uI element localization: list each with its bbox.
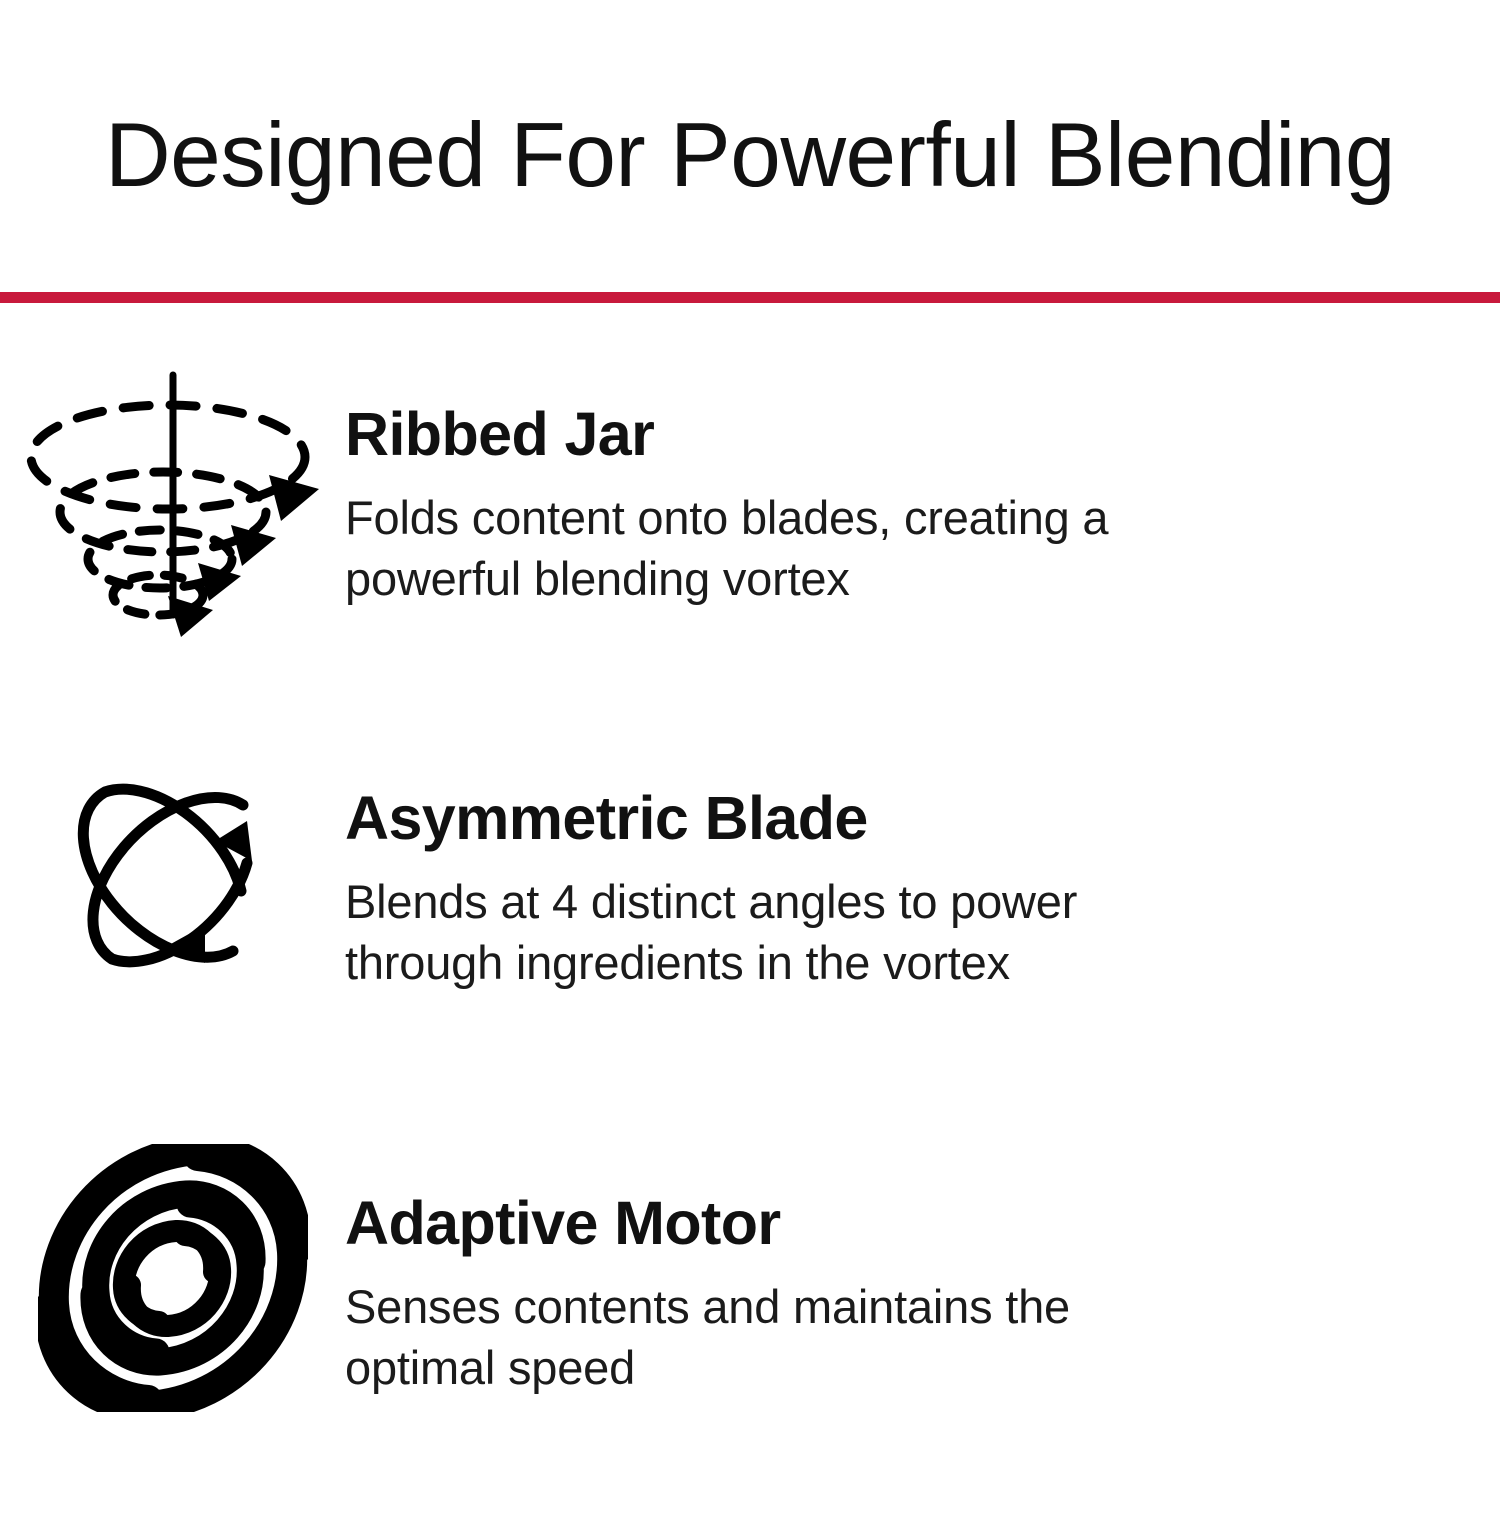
feature-list: Ribbed Jar Folds content onto blades, cr…: [0, 303, 1500, 1534]
feature-title: Asymmetric Blade: [345, 787, 1500, 849]
feature-text-block: Asymmetric Blade Blends at 4 distinct an…: [345, 749, 1500, 993]
page-header: Designed For Powerful Blending: [0, 0, 1500, 292]
feature-description: Senses contents and maintains the optima…: [345, 1276, 1115, 1398]
feature-description: Folds content onto blades, creating a po…: [345, 487, 1115, 609]
list-item: Asymmetric Blade Blends at 4 distinct an…: [0, 749, 1500, 1144]
list-item: Adaptive Motor Senses contents and maint…: [0, 1144, 1500, 1534]
vortex-icon: [23, 367, 323, 657]
feature-icon-slot: [0, 359, 345, 657]
accent-divider: [0, 292, 1500, 303]
feature-description: Blends at 4 distinct angles to power thr…: [345, 871, 1115, 993]
feature-title: Ribbed Jar: [345, 403, 1500, 465]
feature-text-block: Adaptive Motor Senses contents and maint…: [345, 1144, 1500, 1398]
page-title: Designed For Powerful Blending: [105, 110, 1395, 201]
crossed-orbits-blade-icon: [65, 763, 280, 978]
feature-icon-slot: [0, 749, 345, 978]
feature-icon-slot: [0, 1144, 345, 1412]
feature-text-block: Ribbed Jar Folds content onto blades, cr…: [345, 359, 1500, 609]
list-item: Ribbed Jar Folds content onto blades, cr…: [0, 359, 1500, 749]
spiral-swirl-icon: [38, 1144, 308, 1412]
feature-title: Adaptive Motor: [345, 1192, 1500, 1254]
